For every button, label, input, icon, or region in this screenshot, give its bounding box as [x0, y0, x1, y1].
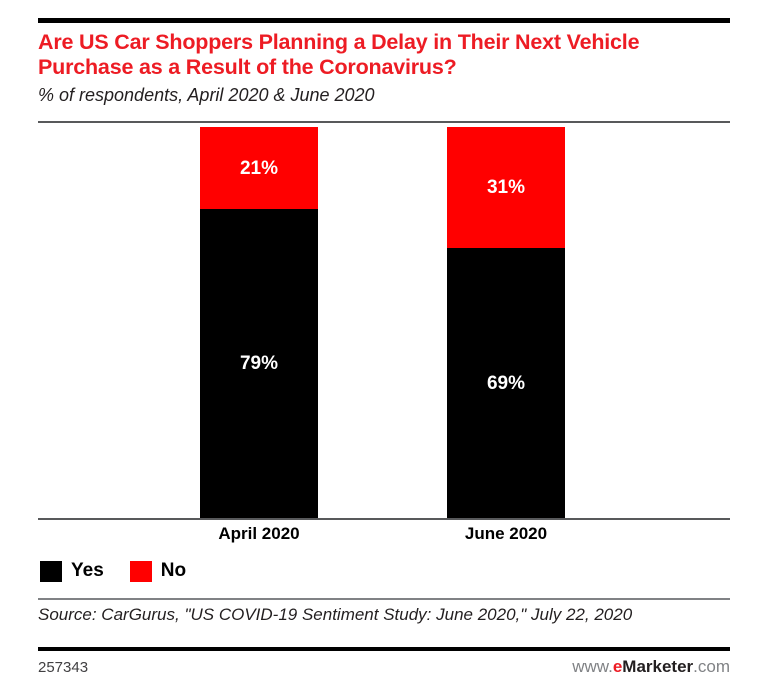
bar-group-april-2020: 21% 79%: [200, 127, 318, 518]
source-note: Source: CarGurus, "US COVID-19 Sentiment…: [38, 604, 728, 625]
legend-swatch-no-icon: [130, 561, 152, 582]
category-label-april-2020: April 2020: [174, 524, 344, 544]
legend-swatch-yes-icon: [40, 561, 62, 582]
bar-group-june-2020: 31% 69%: [447, 127, 565, 518]
bar-segment-april-yes[interactable]: 79%: [200, 209, 318, 518]
footer-brand-e: e: [613, 657, 622, 676]
bar-label-april-yes: 79%: [240, 354, 278, 373]
legend-label-yes: Yes: [71, 560, 104, 582]
chart-footer: 257343 www.eMarketer.com: [38, 657, 730, 677]
footer-brand-name: Marketer: [622, 657, 693, 676]
x-axis-line: [38, 518, 730, 520]
bar-label-june-no: 31%: [487, 178, 525, 197]
plot-area: 21% 79% 31% 69%: [38, 127, 730, 518]
chart-header: Are US Car Shoppers Planning a Delay in …: [38, 30, 738, 106]
footer-brand-www: www.: [572, 657, 613, 676]
plot-top-divider: [38, 121, 730, 123]
top-divider: [38, 18, 730, 23]
legend-item-yes[interactable]: Yes: [40, 560, 104, 582]
chart-legend: Yes No: [40, 560, 186, 582]
source-divider: [38, 598, 730, 600]
footer-divider: [38, 647, 730, 651]
legend-label-no: No: [161, 560, 186, 582]
category-labels: April 2020 June 2020: [38, 524, 730, 548]
category-label-june-2020: June 2020: [421, 524, 591, 544]
footer-brand[interactable]: www.eMarketer.com: [572, 657, 730, 677]
bar-segment-april-no[interactable]: 21%: [200, 127, 318, 209]
bar-label-june-yes: 69%: [487, 374, 525, 393]
bar-segment-june-no[interactable]: 31%: [447, 127, 565, 248]
chart-subtitle: % of respondents, April 2020 & June 2020: [38, 84, 738, 106]
footer-chart-id: 257343: [38, 659, 88, 676]
chart-card: Are US Car Shoppers Planning a Delay in …: [0, 0, 767, 695]
bar-segment-june-yes[interactable]: 69%: [447, 248, 565, 518]
chart-title: Are US Car Shoppers Planning a Delay in …: [38, 30, 738, 80]
bar-label-april-no: 21%: [240, 159, 278, 178]
footer-brand-com: .com: [693, 657, 730, 676]
legend-item-no[interactable]: No: [130, 560, 186, 582]
